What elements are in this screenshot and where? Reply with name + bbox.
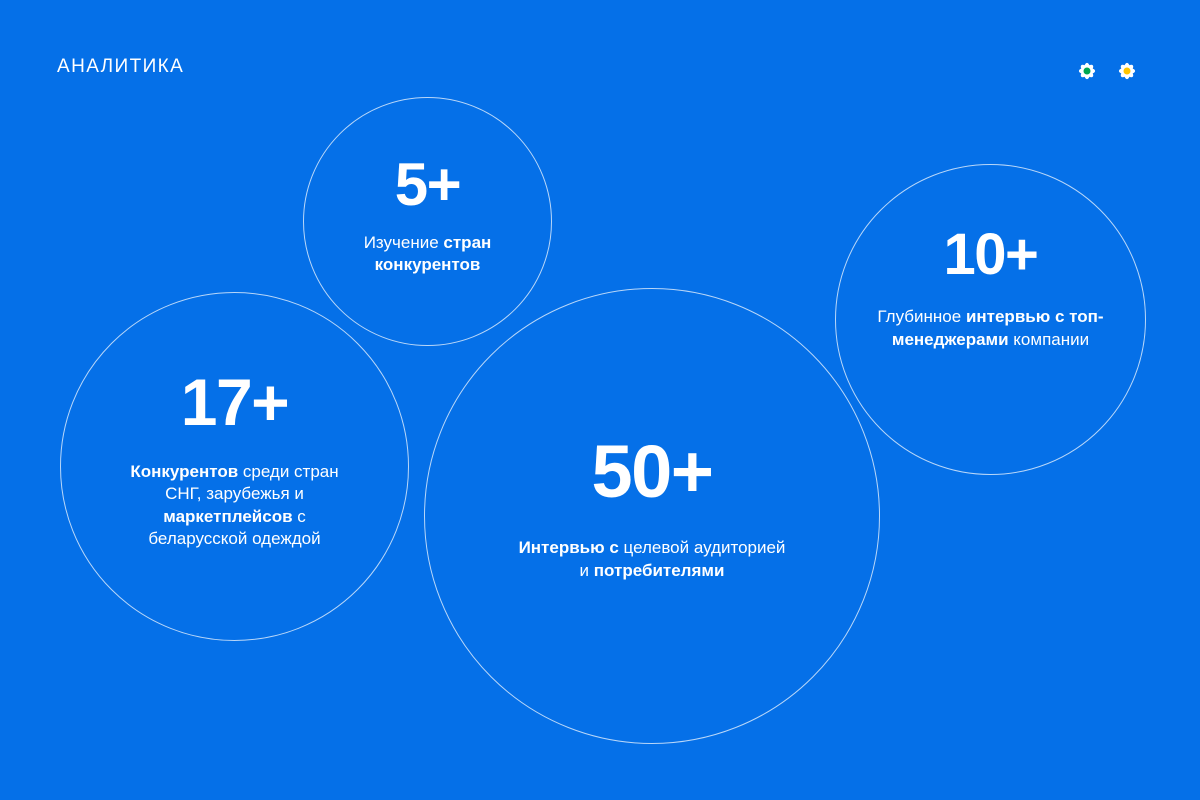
stat-caption: Интервью с целевой аудиторией и потребит… [512, 537, 792, 582]
stat-value: 50+ [591, 437, 712, 507]
stat-caption: Конкурентов среди стран СНГ, зарубежья и… [113, 461, 357, 551]
stat-value: 10+ [944, 227, 1038, 282]
slide-canvas: АНАЛИТИКА [0, 0, 1200, 800]
stat-circle-countries: 5+ Изучение стран конкурентов [303, 97, 552, 346]
stat-caption: Глубинное интервью с топ-менеджерами ком… [866, 306, 1116, 351]
stat-circle-interviews: 50+ Интервью с целевой аудиторией и потр… [424, 288, 880, 744]
daisy-flower-green-icon [1079, 63, 1095, 79]
stat-circle-deep-interviews: 10+ Глубинное интервью с топ-менеджерами… [835, 164, 1146, 475]
daisy-flower-yellow-icon [1119, 63, 1135, 79]
page-title: АНАЛИТИКА [57, 57, 184, 76]
stat-circle-competitors: 17+ Конкурентов среди стран СНГ, зарубеж… [60, 292, 409, 641]
stat-value: 17+ [181, 371, 288, 434]
daisy-logo-icon [1070, 54, 1148, 88]
stat-value: 5+ [395, 156, 460, 213]
stat-caption: Изучение стран конкурентов [328, 232, 528, 277]
